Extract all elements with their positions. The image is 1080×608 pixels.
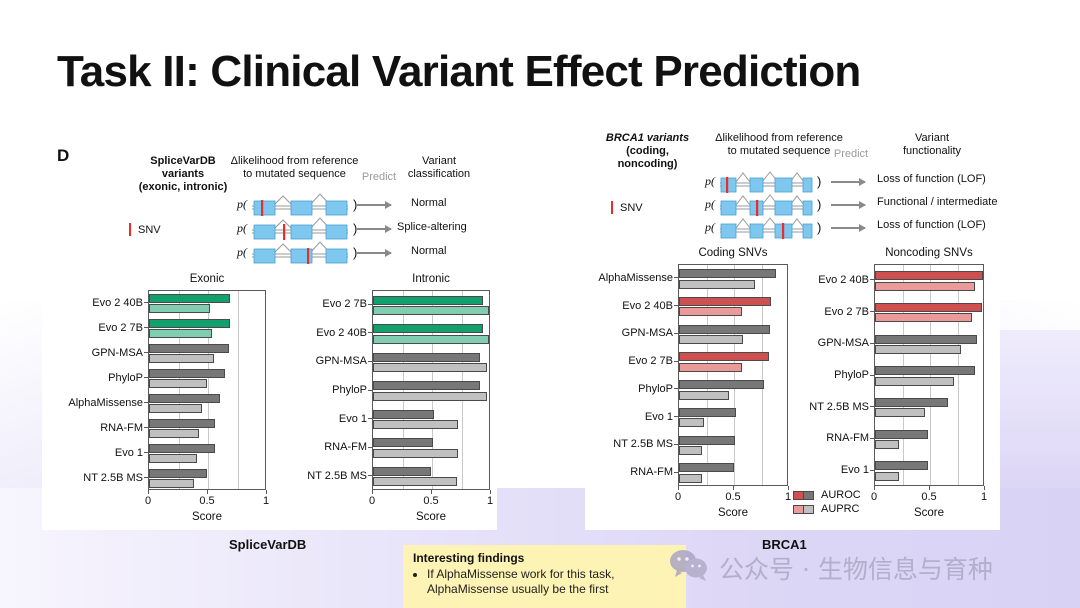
page-title: Task II: Clinical Variant Effect Predict… (57, 48, 957, 96)
gene-schematic-3exon (250, 215, 350, 241)
chart-legend: AUROC AUPRC (793, 489, 861, 517)
y-axis-tick (144, 427, 148, 428)
note-bullet-list: If AlphaMissense work for this task, Alp… (413, 567, 676, 597)
left-snv-legend: SNV (129, 223, 161, 236)
bar-auprc (149, 429, 199, 438)
bar-auprc (149, 329, 212, 338)
left-classification-1: Normal (411, 197, 446, 209)
y-axis-tick (144, 302, 148, 303)
bar-auroc (149, 394, 220, 403)
p-label: p( (705, 197, 715, 212)
paren-close: ) (817, 174, 821, 189)
right-arrow-3 (831, 227, 865, 229)
x-axis-tick-label: 0.5 (725, 491, 740, 503)
bar-auroc (373, 467, 431, 476)
bar-auroc (373, 438, 433, 447)
y-axis-label: Evo 1 (781, 464, 869, 476)
bar-auprc (149, 404, 202, 413)
y-axis-tick (368, 447, 372, 448)
y-axis-label: Evo 2 40B (585, 300, 673, 312)
x-axis-tick-label: 1 (263, 495, 269, 507)
y-axis-tick (870, 279, 874, 280)
y-axis-tick (870, 406, 874, 407)
y-axis-label: GPN-MSA (51, 347, 143, 359)
y-axis-label: Evo 2 7B (51, 322, 143, 334)
x-axis-tick-label: 0.5 (423, 495, 438, 507)
bar-auroc (149, 294, 230, 303)
x-axis-title: Score (678, 507, 788, 519)
y-axis-tick (674, 472, 678, 473)
gridline (238, 291, 239, 489)
bar-auroc (875, 366, 975, 375)
bar-auprc (679, 446, 702, 455)
y-axis-tick (144, 402, 148, 403)
y-axis-tick (144, 352, 148, 353)
x-axis-tick (207, 490, 208, 494)
legend-row-auprc: AUPRC (793, 503, 861, 515)
right-col4-line2: functionality (880, 145, 984, 158)
right-schematic-col4-heading: Variant functionality (880, 132, 984, 158)
panel-letter-d: D (57, 146, 69, 166)
bar-auprc (373, 392, 487, 401)
x-axis-tick-label: 0 (369, 495, 375, 507)
y-axis-tick (870, 311, 874, 312)
y-axis-label: Evo 2 40B (51, 297, 143, 309)
watermark-text: 公众号 · 生物信息与育种 (719, 550, 993, 586)
x-axis-tick-label: 1 (785, 491, 791, 503)
y-axis-label: Evo 1 (275, 413, 367, 425)
interesting-findings-note: Interesting findings If AlphaMissense wo… (403, 545, 686, 608)
left-col2-line1: Δlikelihood from reference (212, 155, 377, 168)
x-axis-tick (733, 486, 734, 490)
bar-auroc (149, 369, 225, 378)
wechat-icon (669, 548, 709, 587)
x-axis-title: Score (874, 507, 984, 519)
y-axis-tick (674, 388, 678, 389)
plot-area (372, 290, 490, 490)
y-axis-label: Evo 2 40B (781, 274, 869, 286)
y-axis-tick (674, 444, 678, 445)
legend-swatch-auroc-gray (803, 491, 814, 500)
right-arrow-1 (831, 181, 865, 183)
y-axis-tick (144, 452, 148, 453)
y-axis-label: GPN-MSA (585, 327, 673, 339)
y-axis-tick (368, 475, 372, 476)
bar-auroc (875, 461, 928, 470)
plot-area (678, 264, 788, 486)
bar-auroc (149, 319, 230, 328)
bar-auprc (149, 379, 207, 388)
y-axis-label: RNA-FM (585, 466, 673, 478)
left-gene-row-1: p( ) (237, 191, 357, 217)
y-axis-label: RNA-FM (275, 441, 367, 453)
bar-auroc (679, 436, 735, 445)
bar-auprc (875, 345, 961, 354)
right-predict-label: Predict (823, 148, 879, 161)
chart-title: Noncoding SNVs (874, 247, 984, 259)
y-axis-tick (368, 332, 372, 333)
x-axis-tick (929, 486, 930, 490)
y-axis-label: NT 2.5B MS (781, 401, 869, 413)
right-classification-3: Loss of function (LOF) (877, 219, 986, 231)
y-axis-label: GPN-MSA (275, 355, 367, 367)
x-axis-tick-label: 0 (145, 495, 151, 507)
left-classification-3: Normal (411, 245, 446, 257)
bar-auprc (875, 377, 954, 386)
x-axis-tick (266, 490, 267, 494)
bar-auroc (875, 271, 983, 280)
bar-auprc (373, 420, 458, 429)
gene-schematic-4exon (718, 214, 814, 240)
bar-auroc (373, 296, 483, 305)
bar-auprc (875, 472, 899, 481)
bar-auprc (373, 449, 458, 458)
y-axis-label: GPN-MSA (781, 337, 869, 349)
right-schematic-col1-heading: BRCA1 variants (coding, noncoding) (595, 132, 700, 171)
bar-auroc (373, 353, 480, 362)
legend-label-auprc: AUPRC (821, 503, 860, 515)
p-label: p( (705, 220, 715, 235)
plot-area (148, 290, 266, 490)
y-axis-tick (144, 327, 148, 328)
y-axis-label: PhyloP (781, 369, 869, 381)
bar-auprc (373, 306, 489, 315)
y-axis-tick (674, 277, 678, 278)
x-axis-tick-label: 0 (871, 491, 877, 503)
snv-tick-icon (611, 201, 613, 214)
x-axis-tick (490, 490, 491, 494)
right-col1-line1: BRCA1 variants (595, 132, 700, 145)
bar-auroc (149, 419, 215, 428)
p-label: p( (705, 174, 715, 189)
x-axis-tick (148, 490, 149, 494)
right-col1-line3: noncoding) (595, 158, 700, 171)
p-label: p( (237, 245, 247, 260)
right-col1-line1-text: BRCA1 variants (606, 132, 689, 144)
right-col4-line1: Variant (880, 132, 984, 145)
right-snv-legend: SNV (611, 201, 643, 214)
bar-auroc (149, 344, 229, 353)
bar-auprc (679, 391, 729, 400)
y-axis-tick (870, 375, 874, 376)
y-axis-tick (144, 477, 148, 478)
note-title: Interesting findings (413, 551, 676, 565)
x-axis-tick-label: 0 (675, 491, 681, 503)
gene-schematic-3exon (250, 191, 350, 217)
left-snv-label: SNV (138, 224, 161, 236)
bar-auprc (679, 280, 755, 289)
y-axis-label: Evo 2 7B (275, 298, 367, 310)
bar-auroc (679, 408, 736, 417)
y-axis-label: NT 2.5B MS (275, 470, 367, 482)
right-col1-line2: (coding, (595, 145, 700, 158)
chart-exonic: ExonicEvo 2 40BEvo 2 7BGPN-MSAPhyloPAlph… (148, 290, 266, 490)
left-arrow-1 (357, 204, 391, 206)
p-label: p( (237, 197, 247, 212)
bar-auroc (679, 325, 770, 334)
bar-auprc (149, 354, 214, 363)
bar-auprc (149, 304, 210, 313)
x-axis-tick-label: 0.5 (199, 495, 214, 507)
x-axis-tick-label: 1 (981, 491, 987, 503)
bar-auprc (373, 335, 489, 344)
right-snv-label: SNV (620, 202, 643, 214)
legend-label-auroc: AUROC (821, 489, 861, 501)
gene-schematic-3exon (250, 239, 350, 265)
y-axis-tick (368, 418, 372, 419)
x-axis-tick (788, 486, 789, 490)
y-axis-tick (368, 361, 372, 362)
left-classification-2: Splice-altering (397, 221, 467, 233)
x-axis-tick (431, 490, 432, 494)
legend-row-auroc: AUROC (793, 489, 861, 501)
left-arrow-3 (357, 252, 391, 254)
caption-splicevardb: SpliceVarDB (229, 537, 306, 552)
p-label: p( (237, 221, 247, 236)
chart-title: Coding SNVs (678, 247, 788, 259)
plot-area (874, 264, 984, 486)
y-axis-tick (674, 361, 678, 362)
y-axis-tick (674, 416, 678, 417)
right-col2-line1: Δlikelihood from reference (698, 132, 860, 145)
bar-auprc (875, 440, 899, 449)
x-axis-title: Score (372, 511, 490, 523)
note-bullet-1: If AlphaMissense work for this task, Alp… (427, 567, 676, 597)
bar-auprc (875, 282, 975, 291)
y-axis-label: AlphaMissense (585, 272, 673, 284)
bar-auprc (373, 477, 457, 486)
bar-auprc (149, 479, 194, 488)
bar-auroc (149, 444, 215, 453)
bar-auprc (679, 418, 704, 427)
right-classification-2: Functional / intermediate (877, 196, 997, 208)
y-axis-label: Evo 2 7B (585, 355, 673, 367)
watermark: 公众号 · 生物信息与育种 (669, 548, 993, 587)
bar-auroc (875, 430, 928, 439)
bar-auroc (875, 335, 977, 344)
bar-auprc (149, 454, 197, 463)
x-axis-tick (984, 486, 985, 490)
y-axis-tick (674, 333, 678, 334)
y-axis-label: Evo 1 (51, 447, 143, 459)
right-classification-1: Loss of function (LOF) (877, 173, 986, 185)
x-axis-title: Score (148, 511, 266, 523)
x-axis-tick-label: 1 (487, 495, 493, 507)
left-arrow-2 (357, 228, 391, 230)
right-gene-row-3: p( ) (705, 214, 821, 240)
x-axis-tick (372, 490, 373, 494)
y-axis-tick (368, 304, 372, 305)
chart-title: Exonic (148, 273, 266, 285)
y-axis-tick (144, 377, 148, 378)
chart-noncoding-snvs: Noncoding SNVsEvo 2 40BEvo 2 7BGPN-MSAPh… (874, 264, 984, 486)
bar-auroc (373, 381, 480, 390)
bar-auprc (679, 307, 742, 316)
chart-intronic: IntronicEvo 2 7BEvo 2 40BGPN-MSAPhyloPEv… (372, 290, 490, 490)
y-axis-label: PhyloP (275, 384, 367, 396)
x-axis-tick (874, 486, 875, 490)
y-axis-label: AlphaMissense (51, 397, 143, 409)
bar-auprc (875, 313, 972, 322)
x-axis-tick-label: 0.5 (921, 491, 936, 503)
y-axis-label: Evo 2 7B (781, 306, 869, 318)
bar-auroc (679, 297, 771, 306)
y-axis-tick (870, 438, 874, 439)
left-gene-row-2: p( ) (237, 215, 357, 241)
y-axis-label: PhyloP (585, 383, 673, 395)
y-axis-tick (870, 343, 874, 344)
bar-auroc (373, 410, 434, 419)
left-col4-line2: classification (392, 168, 486, 181)
bar-auprc (875, 408, 925, 417)
y-axis-tick (674, 305, 678, 306)
bar-auroc (149, 469, 207, 478)
bar-auroc (679, 380, 764, 389)
chart-title: Intronic (372, 273, 490, 285)
y-axis-label: PhyloP (51, 372, 143, 384)
chart-coding-snvs: Coding SNVsAlphaMissenseEvo 2 40BGPN-MSA… (678, 264, 788, 486)
left-gene-row-3: p( ) (237, 239, 357, 265)
paren-close: ) (817, 197, 821, 212)
y-axis-tick (368, 390, 372, 391)
bar-auroc (679, 352, 769, 361)
bar-auroc (679, 463, 734, 472)
slide-root: Task II: Clinical Variant Effect Predict… (0, 0, 1080, 608)
legend-swatch-auprc-gray (803, 505, 814, 514)
y-axis-label: NT 2.5B MS (585, 438, 673, 450)
y-axis-label: RNA-FM (51, 422, 143, 434)
bar-auprc (679, 474, 702, 483)
bar-auroc (679, 269, 776, 278)
left-schematic-col4-heading: Variant classification (392, 155, 486, 181)
snv-tick-icon (129, 223, 131, 236)
y-axis-label: NT 2.5B MS (51, 472, 143, 484)
bar-auroc (875, 303, 982, 312)
bar-auprc (679, 363, 742, 372)
y-axis-label: Evo 1 (585, 411, 673, 423)
bar-auprc (373, 363, 487, 372)
left-col4-line1: Variant (392, 155, 486, 168)
bar-auroc (373, 324, 483, 333)
bar-auprc (679, 335, 743, 344)
x-axis-tick (678, 486, 679, 490)
y-axis-tick (870, 470, 874, 471)
right-arrow-2 (831, 204, 865, 206)
y-axis-label: Evo 2 40B (275, 327, 367, 339)
paren-close: ) (817, 220, 821, 235)
bar-auroc (875, 398, 948, 407)
y-axis-label: RNA-FM (781, 432, 869, 444)
